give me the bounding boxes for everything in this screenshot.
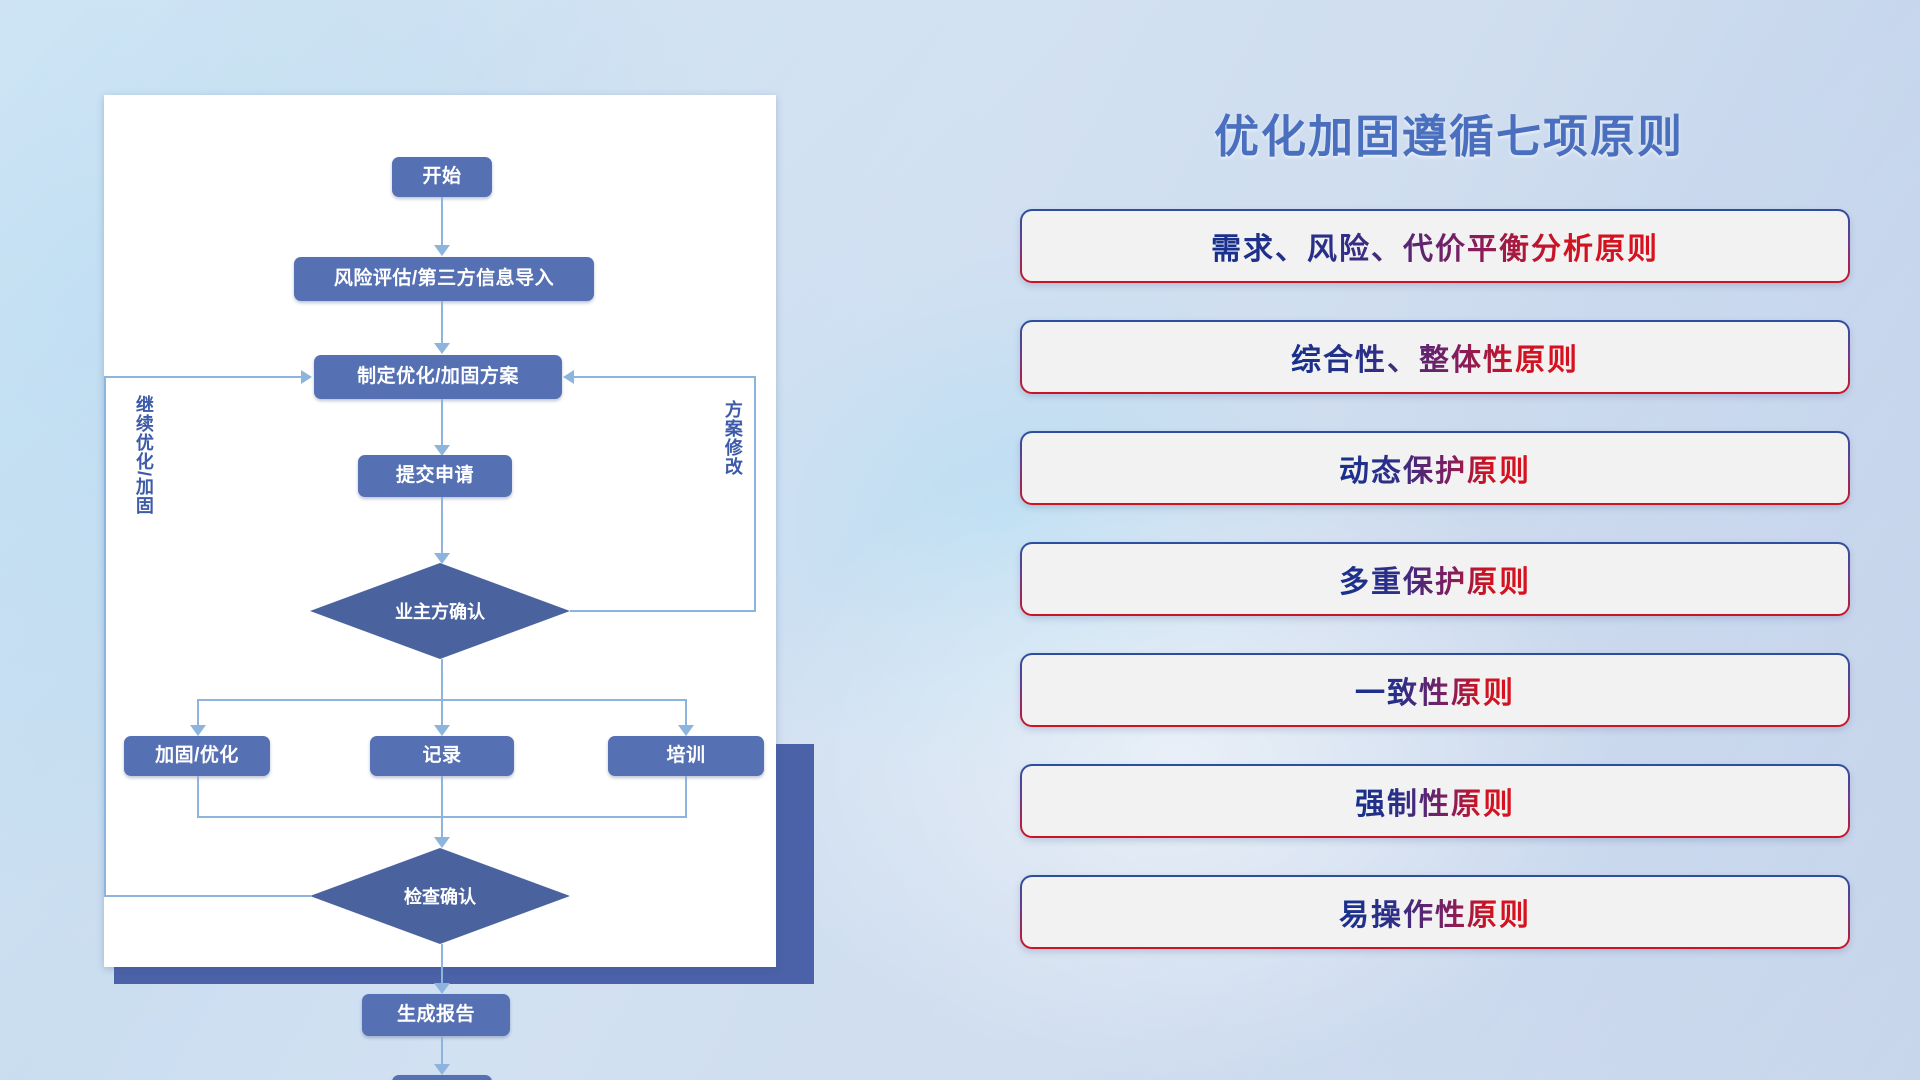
arrow-left-icon	[563, 370, 574, 384]
connector-reinforce-down	[197, 776, 199, 818]
principle-card[interactable]: 易操作性原则	[1020, 875, 1850, 949]
slide-canvas: 开始 风险评估/第三方信息导入 制定优化/加固方案 提交申请 业主方确认 方案修…	[0, 0, 1920, 1080]
arrow-down-icon	[434, 725, 450, 736]
principle-card[interactable]: 强制性原则	[1020, 764, 1850, 838]
principle-card-inner: 强制性原则	[1022, 766, 1848, 836]
flow-node-risk-assessment[interactable]: 风险评估/第三方信息导入	[294, 257, 594, 301]
flowchart-card: 开始 风险评估/第三方信息导入 制定优化/加固方案 提交申请 业主方确认 方案修…	[104, 95, 776, 967]
principle-card[interactable]: 需求、风险、代价平衡分析原则	[1020, 209, 1850, 283]
flow-decision-owner-confirm[interactable]: 业主方确认	[310, 563, 570, 659]
flow-node-record[interactable]: 记录	[370, 736, 514, 776]
principle-card-inner: 综合性、整体性原则	[1022, 322, 1848, 392]
arrow-down-icon	[434, 983, 450, 994]
arrow-down-icon	[434, 837, 450, 848]
principle-label: 需求、风险、代价平衡分析原则	[1211, 224, 1659, 268]
arrow-down-icon	[434, 553, 450, 564]
connector-training-down	[685, 776, 687, 818]
principle-card-inner: 需求、风险、代价平衡分析原则	[1022, 211, 1848, 281]
principle-card[interactable]: 一致性原则	[1020, 653, 1850, 727]
connector-left-to-plan	[104, 376, 302, 378]
connector-right-to-plan	[574, 376, 756, 378]
principle-label: 易操作性原则	[1339, 890, 1531, 934]
arrow-down-icon	[434, 1064, 450, 1075]
flow-node-start[interactable]: 开始	[392, 157, 492, 197]
principles-panel: 优化加固遵循七项原则 需求、风险、代价平衡分析原则 综合性、整体性原则 动态保护…	[1020, 100, 1850, 1020]
connector-right-vertical	[754, 377, 756, 611]
principle-label: 综合性、整体性原则	[1291, 335, 1579, 379]
arrow-down-icon	[678, 725, 694, 736]
principle-card-inner: 易操作性原则	[1022, 877, 1848, 947]
connector-left-vertical	[104, 377, 106, 897]
arrow-down-icon	[434, 343, 450, 354]
connector-plan-to-submit	[441, 399, 443, 451]
panel-title: 优化加固遵循七项原则	[1020, 100, 1850, 165]
arrow-down-icon	[434, 245, 450, 256]
connector-start-to-assess	[441, 197, 443, 249]
flow-node-reinforce-optimize[interactable]: 加固/优化	[124, 736, 270, 776]
principle-label: 一致性原则	[1355, 668, 1515, 712]
principle-card-inner: 多重保护原则	[1022, 544, 1848, 614]
connector-owner-to-right	[570, 610, 756, 612]
connector-check-to-left	[104, 895, 312, 897]
arrow-down-icon	[190, 725, 206, 736]
flow-node-generate-report[interactable]: 生成报告	[362, 994, 510, 1036]
principle-card-list: 需求、风险、代价平衡分析原则 综合性、整体性原则 动态保护原则 多重保护原则	[1020, 209, 1850, 949]
principle-card-inner: 一致性原则	[1022, 655, 1848, 725]
connector-submit-to-owner	[441, 497, 443, 559]
principle-card[interactable]: 多重保护原则	[1020, 542, 1850, 616]
principle-label: 多重保护原则	[1339, 557, 1531, 601]
principle-label: 动态保护原则	[1339, 446, 1531, 490]
flow-node-make-plan[interactable]: 制定优化/加固方案	[314, 355, 562, 399]
principle-label: 强制性原则	[1355, 779, 1515, 823]
flow-node-training[interactable]: 培训	[608, 736, 764, 776]
edge-label-plan-revision: 方案修改	[723, 400, 742, 476]
flow-decision-check-confirm[interactable]: 检查确认	[310, 848, 570, 944]
edge-label-continue-optimize: 继续优化/加固	[134, 395, 153, 515]
arrow-right-icon	[301, 370, 312, 384]
connector-check-to-report	[441, 944, 443, 988]
connector-record-to-check	[441, 776, 443, 842]
flow-node-end[interactable]: 结束	[392, 1075, 492, 1080]
connector-owner-down	[441, 659, 443, 701]
principle-card-inner: 动态保护原则	[1022, 433, 1848, 503]
principle-card[interactable]: 综合性、整体性原则	[1020, 320, 1850, 394]
principle-card[interactable]: 动态保护原则	[1020, 431, 1850, 505]
connector-assess-to-plan	[441, 301, 443, 349]
flow-node-submit-application[interactable]: 提交申请	[358, 455, 512, 497]
